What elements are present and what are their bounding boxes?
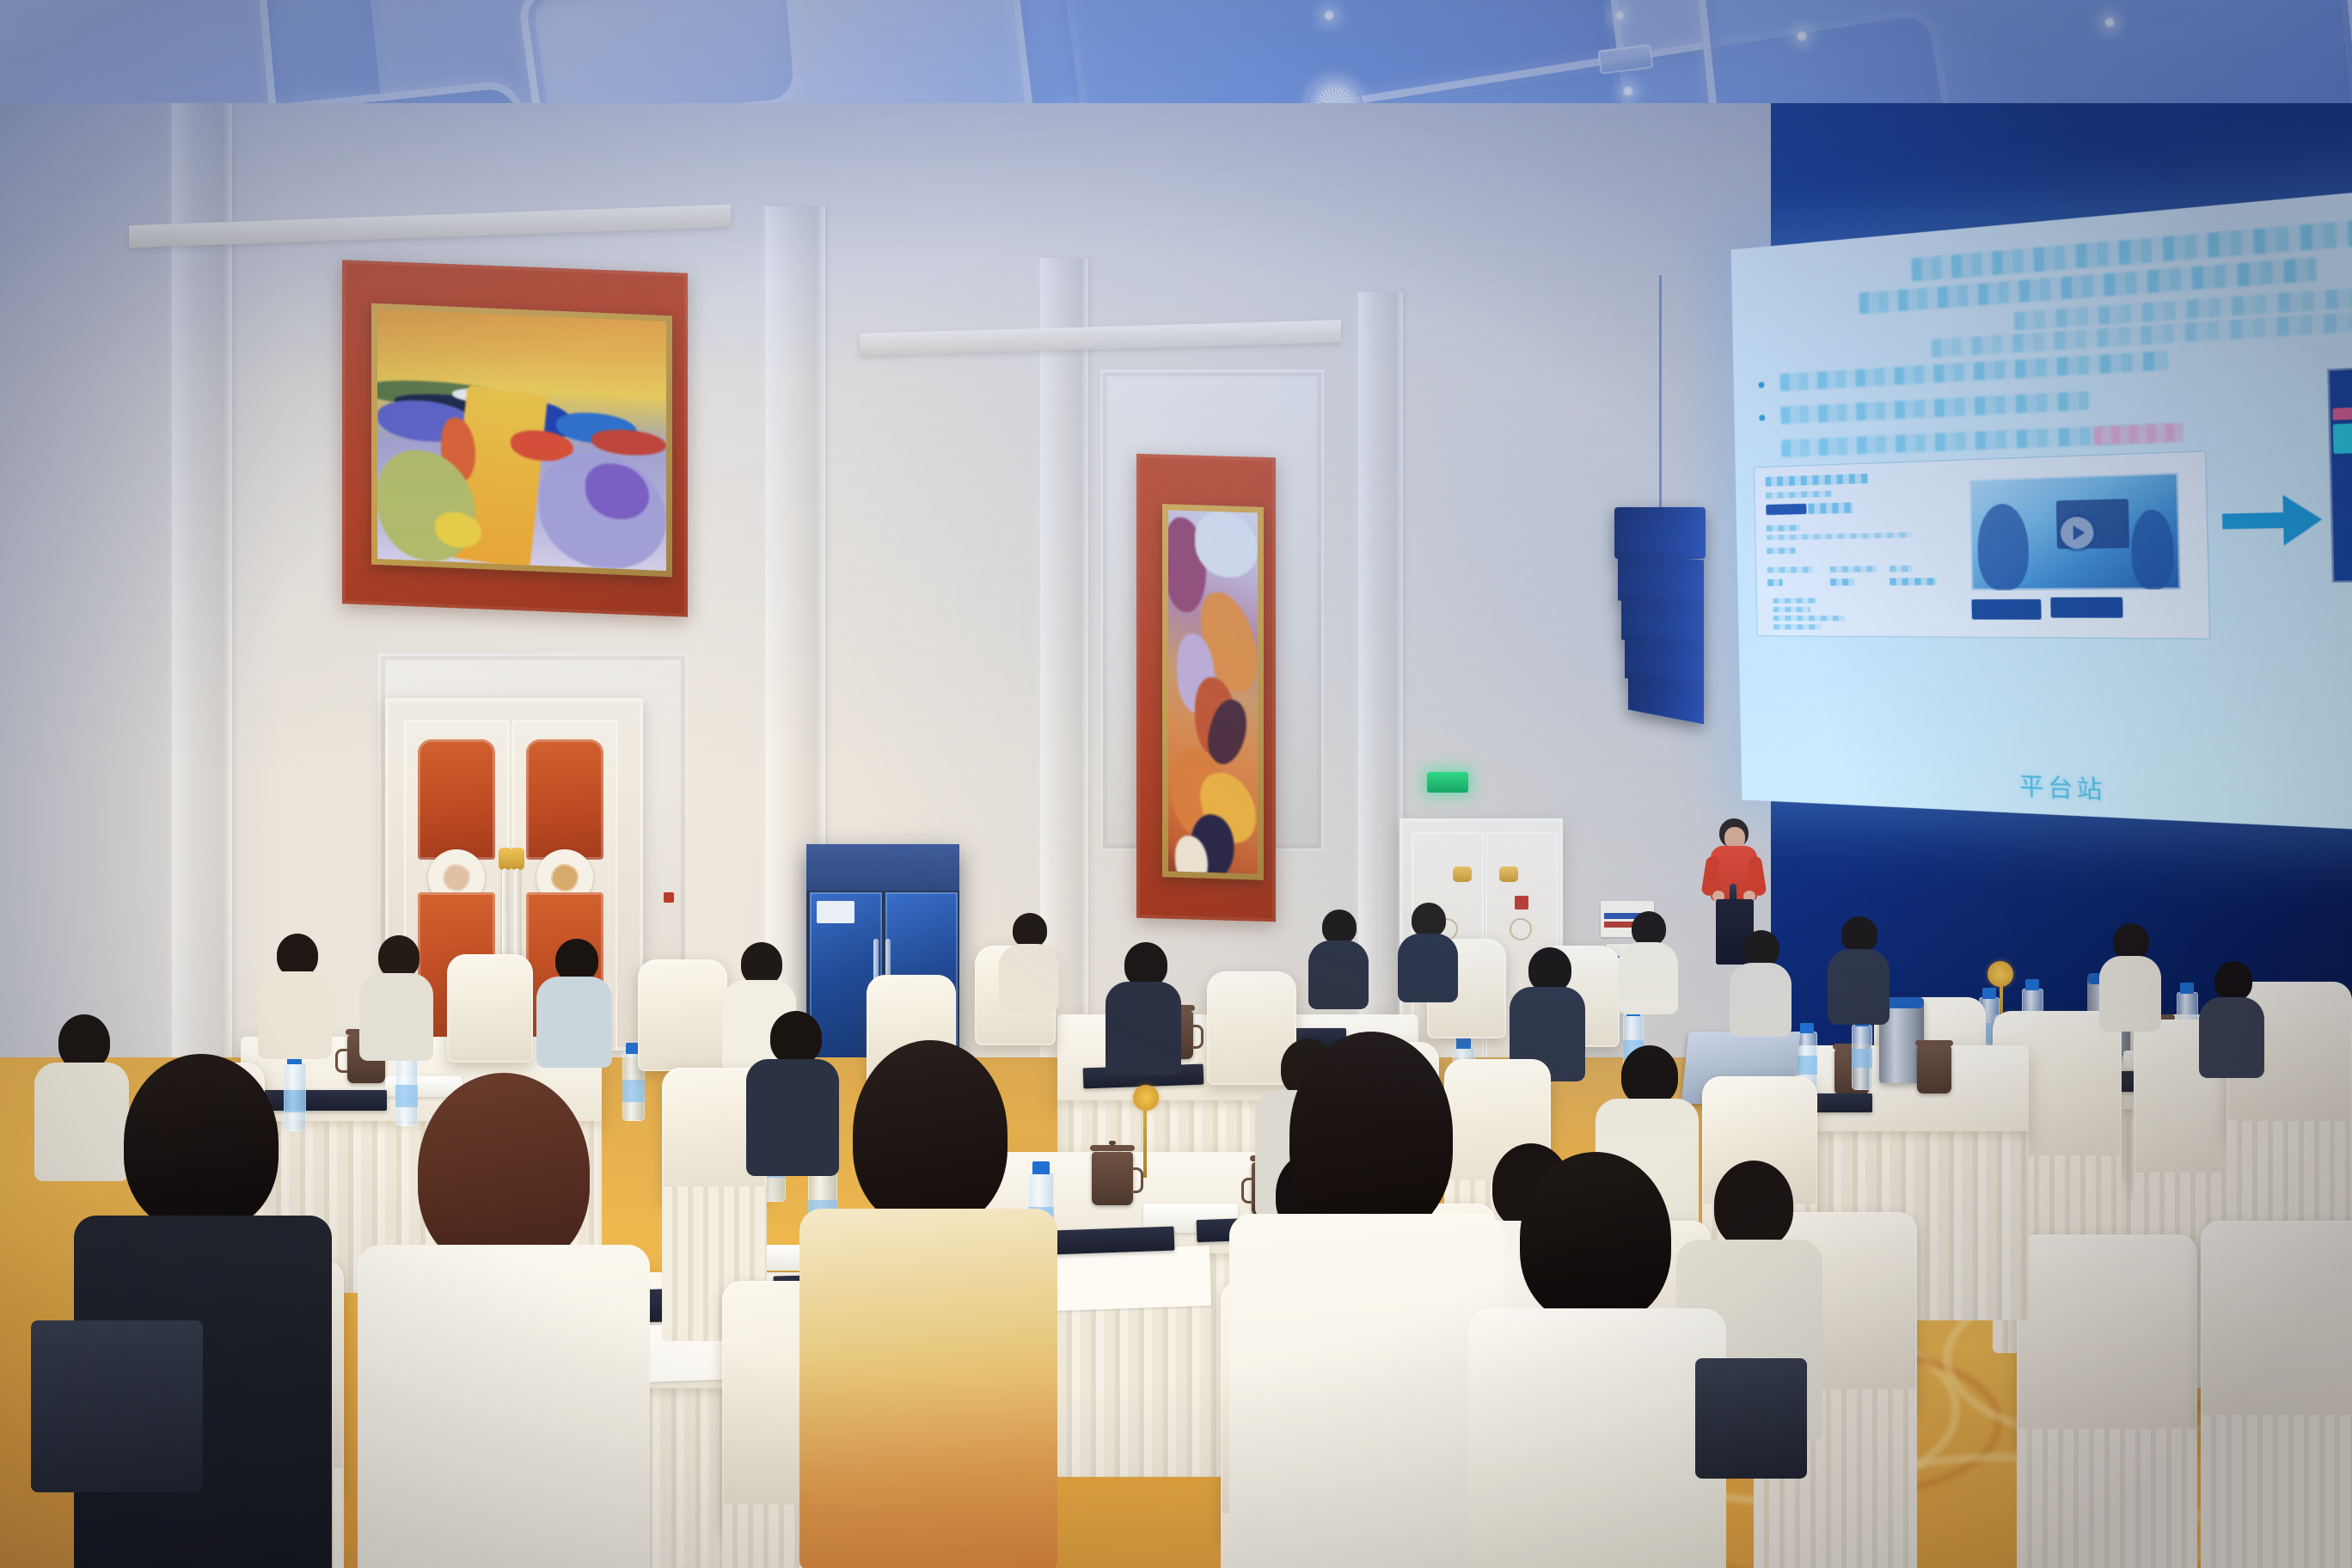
banquet-chair[interactable] [2017, 1234, 2197, 1449]
person-torso [1106, 982, 1181, 1075]
card-list-redacted [1773, 624, 1821, 629]
slide-footer-text: 平台站 [2019, 768, 2107, 805]
refrigerator-header [806, 844, 959, 891]
audience-member [536, 939, 612, 1059]
audience-member [1398, 903, 1458, 997]
slide-bullet-text-redacted [1780, 391, 2089, 425]
card-stat-label-redacted [1830, 566, 1877, 573]
slide-bullet-marker [1759, 414, 1765, 420]
audience-member [1616, 911, 1678, 1009]
tall-abstract-painting [1168, 510, 1258, 873]
audience-member [1468, 1152, 1726, 1568]
projection-screen[interactable]: 平台站 [1731, 186, 2352, 833]
chair-skirt [2201, 1415, 2352, 1568]
table-number-stand [1133, 1085, 1159, 1111]
person-torso [1229, 1214, 1504, 1568]
person-torso [1730, 963, 1792, 1037]
card-list-redacted [1773, 598, 1816, 603]
audience-member [359, 935, 433, 1052]
mug-handle [1131, 1167, 1143, 1193]
person-torso [258, 971, 332, 1059]
card-action-button[interactable] [1971, 599, 2041, 620]
ceiling-downlight-icon [1623, 86, 1633, 96]
person-torso [1618, 942, 1678, 1014]
audience-member [1229, 1032, 1504, 1568]
door-panel [526, 739, 603, 860]
person-torso [1468, 1308, 1726, 1568]
door-quatrefoil-icon [1510, 918, 1532, 940]
slide-bullet-marker [1759, 382, 1765, 388]
mug-knob [1109, 1141, 1116, 1145]
card-thumbnail-photo[interactable] [1969, 473, 2180, 591]
ceiling-downlight-icon [2104, 17, 2115, 28]
person-hair [277, 934, 318, 977]
person-hair [1743, 930, 1779, 966]
door-panel [418, 739, 495, 860]
person-torso [1398, 934, 1458, 1002]
card-tag-redacted [1808, 502, 1853, 514]
person-hair [1124, 942, 1167, 987]
bottle-cap [1800, 1023, 1814, 1033]
card-meta-redacted [1766, 491, 1832, 499]
person-torso [1308, 940, 1369, 1009]
bottle-cap [1982, 988, 1996, 999]
card-title-redacted [1766, 474, 1869, 487]
person-hair [1289, 1032, 1453, 1238]
refrigerator-label [817, 901, 854, 923]
bottle-cap [2025, 979, 2039, 990]
audience-member [1510, 947, 1585, 1071]
wall-pilaster [172, 103, 232, 1105]
water-bottle [1852, 1025, 1872, 1090]
landscape-abstract-painting [377, 309, 666, 571]
banquet-chair[interactable] [447, 954, 533, 1063]
person-torso [1828, 949, 1890, 1025]
note-paper [1046, 1246, 1211, 1312]
person-hair [2214, 961, 2252, 1001]
door-quatrefoil-icon [443, 864, 470, 891]
card-stat-value-redacted [1890, 578, 1936, 585]
red-wall-marker [1515, 896, 1528, 910]
person-hair [1322, 910, 1357, 944]
person-hair [1621, 1045, 1678, 1106]
photo-figure [2130, 509, 2174, 590]
person-torso [2099, 956, 2161, 1032]
card-body-redacted [1767, 532, 1912, 540]
person-hair [124, 1054, 279, 1231]
banquet-chair[interactable] [2201, 1221, 2352, 1436]
mug-lid [1915, 1040, 1953, 1046]
person-torso [799, 1209, 1057, 1568]
mug-handle [1191, 1025, 1204, 1049]
card-stat-value-redacted [1767, 579, 1783, 586]
card-list-redacted [1773, 616, 1845, 621]
service-door-handle[interactable] [1453, 867, 1472, 882]
conference-hall-photo: 平台站 [0, 0, 2352, 1568]
card-action-button[interactable] [2050, 597, 2122, 618]
audience-member [258, 934, 332, 1050]
audience-member [997, 913, 1059, 1008]
exit-sign [1427, 772, 1468, 793]
tea-mug [1092, 1152, 1133, 1205]
person-hair [1412, 903, 1446, 937]
audience-member [1728, 930, 1792, 1030]
bottle-label [1797, 1056, 1817, 1075]
photo-figure [1977, 503, 2030, 590]
person-torso [358, 1245, 650, 1568]
service-door-handle[interactable] [1499, 867, 1518, 882]
painting-frame-landscape [371, 303, 672, 578]
person-hair [1632, 911, 1666, 946]
audience-member [799, 1040, 1057, 1565]
person-hair [555, 939, 598, 982]
audience-member [1106, 942, 1181, 1064]
projected-slide: 平台站 [1731, 186, 2352, 833]
person-torso [2199, 997, 2264, 1078]
table-number-stem [1143, 1100, 1147, 1178]
line-array-speaker [1614, 507, 1706, 559]
person-torso [359, 973, 433, 1061]
door-handle-knob[interactable] [511, 848, 524, 870]
table-number-stand [1988, 961, 2013, 987]
card-stat-label-redacted [1767, 567, 1813, 573]
person-hair [1520, 1152, 1671, 1324]
person-hair [1013, 913, 1047, 947]
bottle-label [1852, 1049, 1872, 1068]
card-tag-badge [1766, 504, 1806, 515]
door-quatrefoil-icon [551, 864, 579, 891]
chair-skirt [2017, 1429, 2197, 1568]
shoulder-bag [31, 1320, 203, 1492]
shoulder-bag [1695, 1358, 1807, 1479]
person-torso [536, 977, 612, 1068]
card-list-redacted [1773, 607, 1810, 612]
audience-member [2197, 961, 2264, 1071]
audience-member [358, 1073, 650, 1568]
person-hair [2113, 923, 2149, 959]
red-wall-marker [664, 892, 674, 903]
person-hair [1841, 916, 1877, 952]
person-hair [1528, 947, 1571, 992]
mobile-app-screenshot [2327, 363, 2352, 583]
ceiling-downlight-icon [1797, 31, 1807, 41]
audience-member [1307, 910, 1369, 1004]
person-torso [999, 944, 1059, 1011]
person-hair [378, 935, 420, 978]
slide-content-card [1754, 450, 2211, 639]
tea-mug [1917, 1045, 1951, 1093]
app-accent [2332, 407, 2352, 420]
app-badge [2333, 423, 2352, 454]
audience-member [2098, 923, 2161, 1025]
card-body-redacted [1767, 524, 1800, 531]
card-stat-label-redacted [1890, 566, 1913, 573]
slide-highlight-redacted [2093, 423, 2184, 445]
banquet-chair[interactable] [638, 959, 727, 1071]
slide-bullet-text-redacted [1780, 351, 2168, 391]
mug-lid [1090, 1145, 1135, 1151]
speaker-rigging-wire [1659, 275, 1662, 507]
painting-frame-tall [1162, 504, 1264, 880]
audience-member [1826, 916, 1890, 1018]
mug-handle [335, 1049, 347, 1073]
person-hair [418, 1073, 590, 1271]
flow-arrow-icon [2221, 492, 2322, 548]
card-stat-value-redacted [1830, 579, 1854, 585]
card-body-redacted [1767, 548, 1795, 554]
ceiling-downlight-icon [1324, 10, 1334, 21]
person-hair [853, 1040, 1008, 1228]
person-hair [741, 942, 782, 985]
bottle-cap [2180, 983, 2194, 994]
ceiling-downlight-icon [1614, 10, 1625, 21]
